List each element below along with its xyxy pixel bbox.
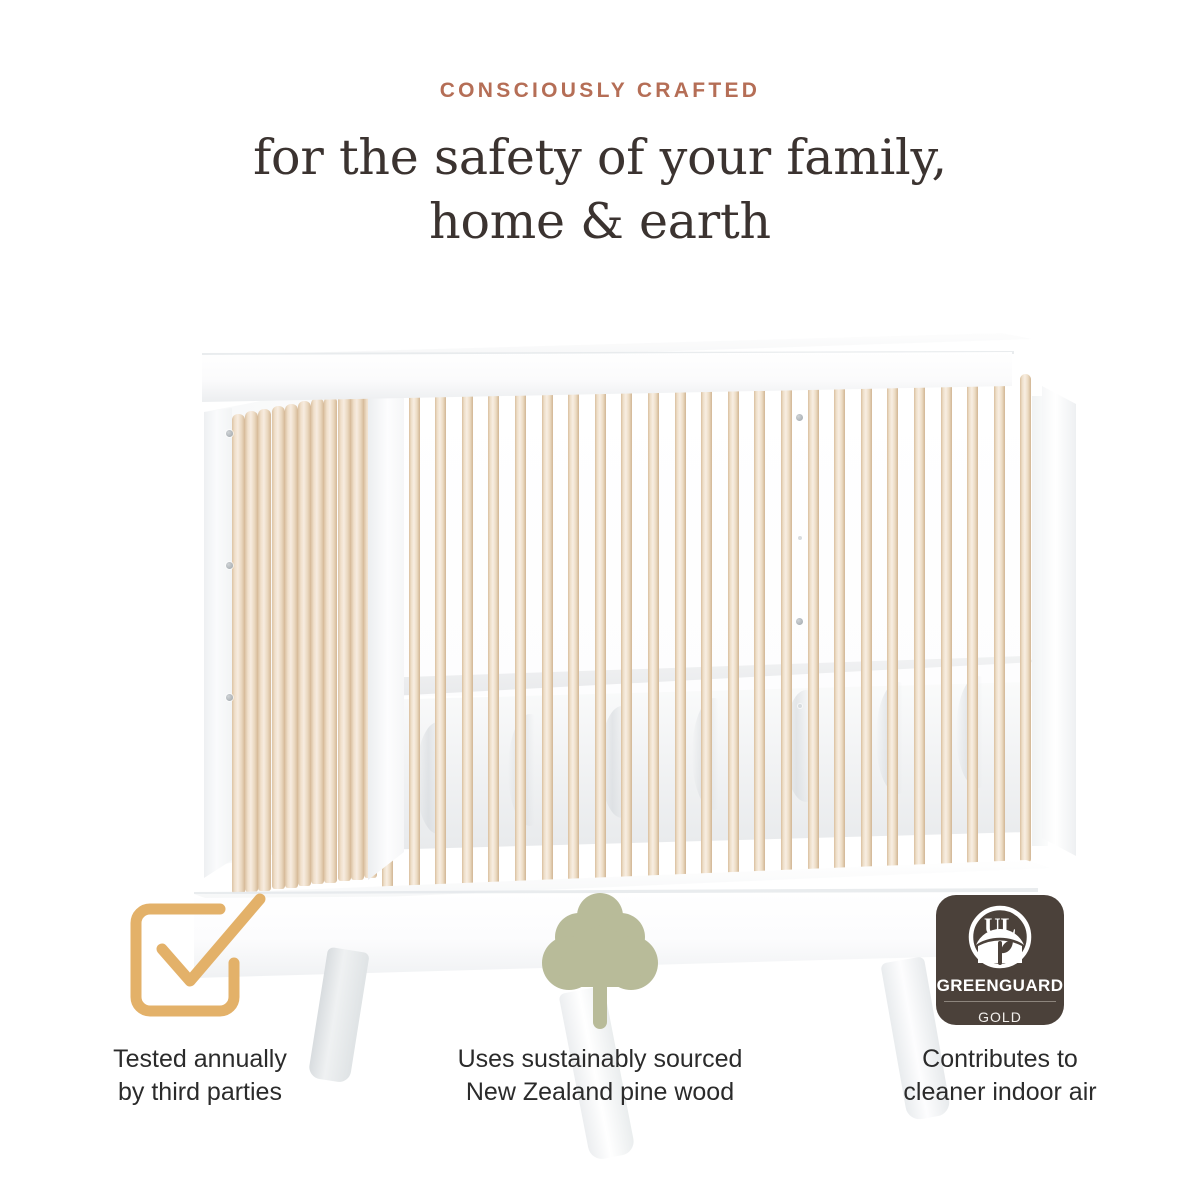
crib-slat	[621, 386, 632, 882]
crib-slat	[834, 380, 845, 872]
crib-post-left	[204, 408, 232, 878]
crib-slat	[941, 376, 952, 866]
crib-product-image	[180, 300, 1060, 865]
crib-post-left-inner	[368, 372, 404, 892]
badge-body: UL GREENGUARD GOLD	[936, 895, 1064, 1025]
screw	[226, 694, 233, 701]
checkbox-check-icon	[120, 885, 280, 1035]
crib-slat	[967, 375, 978, 864]
crib-slat	[1020, 374, 1031, 862]
feature-caption-line-2: by third parties	[113, 1076, 287, 1109]
crib-post-right	[1042, 386, 1076, 856]
crib-slat	[781, 381, 792, 874]
feature-list: Tested annually by third parties	[0, 885, 1200, 1135]
crib-slat	[595, 387, 606, 883]
badge-name: GREENGUARD	[937, 976, 1064, 996]
crib-slat	[808, 380, 819, 872]
crib-slat	[515, 390, 526, 888]
crib-slat	[701, 384, 712, 878]
crib-slat	[311, 398, 324, 884]
crib-slat	[754, 382, 765, 875]
crib-slat	[285, 404, 298, 888]
crib-slat	[488, 391, 499, 889]
feature-caption: Uses sustainably sourced New Zealand pin…	[458, 1043, 743, 1109]
crib-slat	[728, 383, 739, 877]
crib-slat	[994, 374, 1005, 863]
crib-slat	[298, 401, 311, 886]
crib-slat	[232, 414, 245, 894]
crib-slat	[351, 391, 364, 880]
crib-slat	[887, 378, 898, 869]
crib-slat	[338, 393, 351, 881]
crib-front-slats	[376, 360, 1056, 880]
crib-slat	[675, 385, 686, 880]
crib-slat	[462, 391, 473, 890]
feature-item-tested-annually: Tested annually by third parties	[0, 885, 400, 1135]
feature-item-clean-air: UL GREENGUARD GOLD Contributes to cleane…	[800, 885, 1200, 1135]
badge-level: GOLD	[978, 1009, 1022, 1025]
end-panel-slats	[228, 378, 380, 908]
feature-item-sustainable-wood: Uses sustainably sourced New Zealand pin…	[400, 885, 800, 1135]
promo-graphic: CONSCIOUSLY CRAFTED for the safety of yo…	[0, 0, 1200, 1200]
crib-slat	[324, 396, 337, 883]
page-title: for the safety of your family, home & ea…	[0, 126, 1200, 254]
greenguard-gold-badge-icon: UL GREENGUARD GOLD	[936, 885, 1064, 1035]
screw	[796, 618, 803, 625]
crib-slat	[648, 386, 659, 881]
tree-icon	[535, 885, 665, 1035]
crib-slat	[542, 389, 553, 886]
screw	[226, 430, 233, 437]
screw	[226, 562, 233, 569]
crib-slat	[568, 388, 579, 885]
screw	[796, 414, 803, 421]
badge-divider	[944, 1001, 1056, 1002]
feature-caption-line-2: cleaner indoor air	[903, 1076, 1096, 1109]
crib-slat	[272, 406, 285, 889]
ul-mark-icon: UL	[968, 905, 1032, 974]
crib-slat	[914, 377, 925, 867]
screw	[798, 536, 802, 540]
feature-caption-line-1: Uses sustainably sourced	[458, 1045, 743, 1073]
crib-slat	[258, 409, 271, 891]
screw	[798, 704, 802, 708]
crib-slat	[409, 393, 420, 893]
crib-end-panel-left	[204, 378, 379, 908]
headline-line-2: home & earth	[0, 190, 1200, 254]
feature-caption: Contributes to cleaner indoor air	[903, 1043, 1096, 1109]
feature-caption-line-1: Contributes to	[922, 1045, 1078, 1073]
headline-line-1: for the safety of your family,	[253, 129, 947, 186]
eyebrow-text: CONSCIOUSLY CRAFTED	[0, 79, 1200, 103]
feature-caption: Tested annually by third parties	[113, 1043, 287, 1109]
feature-caption-line-1: Tested annually	[113, 1045, 287, 1073]
crib-slat	[245, 411, 258, 892]
crib-slat	[435, 392, 446, 891]
feature-caption-line-2: New Zealand pine wood	[458, 1076, 743, 1109]
crib-slat	[861, 379, 872, 870]
